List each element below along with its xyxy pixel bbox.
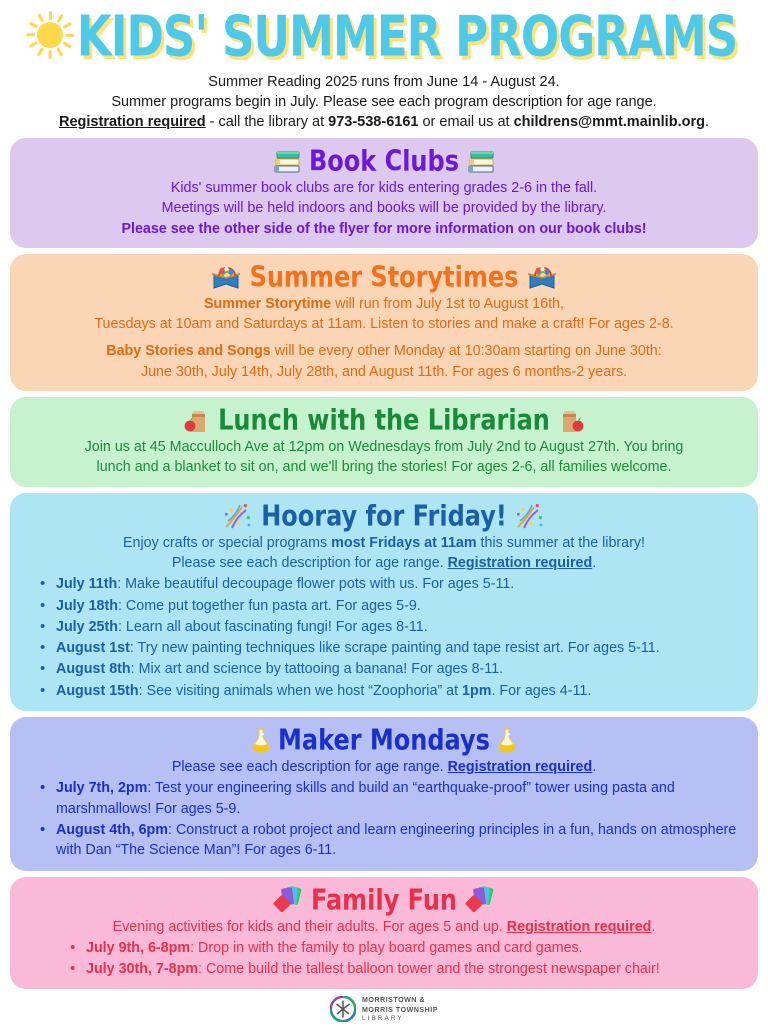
maker-line-1b: . (592, 759, 596, 775)
event-desc: : Come build the tallest balloon tower a… (198, 961, 660, 977)
storytimes-line-1: Summer Storytime will run from July 1st … (26, 294, 742, 314)
friday-line-2b: . (592, 555, 596, 571)
friday-time-highlight: most Fridays at 11am (331, 535, 476, 551)
registration-required-label: Registration required (59, 114, 206, 130)
library-phone: 973-538-6161 (328, 114, 418, 130)
playing-cards-icon (464, 885, 496, 915)
storytimes-header: Summer Storytimes (26, 260, 742, 294)
event-desc: : See visiting animals when we host “Zoo… (139, 683, 462, 699)
list-item: July 11th: Make beautiful decoupage flow… (40, 574, 742, 594)
storytimes-line-3-rest: will be every other Monday at 10:30am st… (271, 343, 662, 359)
flask-icon (251, 726, 271, 754)
section-hooray-for-friday: Hooray for Friday! Enjoy crafts or speci… (10, 493, 758, 711)
event-date: July 11th (56, 576, 117, 592)
list-item: August 4th, 6pm: Construct a robot proje… (40, 820, 742, 861)
list-item: July 18th: Come put together fun pasta a… (40, 596, 742, 616)
maker-title: Maker Mondays (278, 726, 490, 755)
book-clubs-title: Book Clubs (309, 147, 459, 176)
storytimes-line-4: June 30th, July 14th, July 28th, and Aug… (26, 362, 742, 382)
baby-stories-program-name: Baby Stories and Songs (106, 343, 270, 359)
family-line-1: Evening activities for kids and their ad… (26, 917, 742, 937)
logo-line-3: LIBRARY (362, 1015, 438, 1023)
list-item: July 25th: Learn all about fascinating f… (40, 617, 742, 637)
event-date: July 7th, 2pm (56, 780, 147, 796)
book-clubs-callout: Please see the other side of the flyer f… (121, 221, 646, 237)
open-book-rainbow-icon (525, 263, 559, 291)
playing-cards-icon (272, 885, 304, 915)
list-item: August 8th: Mix art and science by tatto… (40, 659, 742, 679)
family-line-1b: . (651, 919, 655, 935)
event-date: August 1st (56, 640, 130, 656)
book-clubs-line-2: Meetings will be held indoors and books … (26, 198, 742, 218)
lunch-bag-apple-icon (183, 406, 211, 434)
flyer-page: KIDS' SUMMER PROGRAMS Summer Reading 202… (0, 0, 768, 994)
header-line-3: Registration required - call the library… (0, 112, 768, 132)
title-row: KIDS' SUMMER PROGRAMS (0, 4, 768, 68)
header-line-1: Summer Reading 2025 runs from June 14 - … (0, 72, 768, 92)
section-family-fun: Family Fun Evening activities for kids a… (10, 877, 758, 990)
header-line-3b: or email us at (418, 114, 513, 130)
list-item: July 9th, 6-8pm: Drop in with the family… (70, 938, 742, 958)
flask-icon (497, 726, 517, 754)
section-lunch-with-librarian: Lunch with the Librarian Join us at 45 M… (10, 397, 758, 487)
header-line-3a: - call the library at (206, 114, 329, 130)
event-date: July 18th (56, 598, 118, 614)
registration-required-label: Registration required (448, 555, 593, 571)
stacked-books-icon (466, 148, 496, 175)
event-desc: : Test your engineering skills and build… (56, 780, 675, 816)
friday-event-list: July 11th: Make beautiful decoupage flow… (26, 574, 742, 701)
logo-line-2: MORRIS TOWNSHIP (362, 1006, 438, 1015)
family-header: Family Fun (26, 883, 742, 917)
list-item: July 30th, 7-8pm: Come build the tallest… (70, 959, 742, 979)
friday-line-1b: this summer at the library! (477, 535, 645, 551)
lunch-header: Lunch with the Librarian (26, 403, 742, 437)
stacked-books-icon (272, 148, 302, 175)
sun-icon (24, 9, 76, 61)
event-desc: : Drop in with the family to play board … (190, 940, 583, 956)
friday-line-2: Please see each description for age rang… (26, 553, 742, 573)
open-book-rainbow-icon (209, 263, 243, 291)
event-date: July 25th (56, 619, 118, 635)
event-date: August 8th (56, 661, 131, 677)
friday-line-2a: Please see each description for age rang… (172, 555, 448, 571)
header-line-2: Summer programs begin in July. Please se… (0, 92, 768, 112)
family-line-1a: Evening activities for kids and their ad… (113, 919, 507, 935)
book-clubs-header: Book Clubs (26, 144, 742, 178)
storytimes-line-2: Tuesdays at 10am and Saturdays at 11am. … (26, 314, 742, 334)
event-date: July 30th, 7-8pm (86, 961, 198, 977)
confetti-icon (514, 501, 546, 531)
library-email: childrens@mmt.mainlib.org (514, 114, 705, 130)
event-date: August 4th, 6pm (56, 822, 168, 838)
event-date: July 9th, 6-8pm (86, 940, 190, 956)
list-item: August 1st: Try new painting techniques … (40, 638, 742, 658)
event-desc: : Make beautiful decoupage flower pots w… (117, 576, 514, 592)
event-desc: : Try new painting techniques like scrap… (130, 640, 660, 656)
family-event-list: July 9th, 6-8pm: Drop in with the family… (26, 938, 742, 980)
flyer-header: KIDS' SUMMER PROGRAMS Summer Reading 202… (0, 0, 768, 132)
registration-required-label: Registration required (507, 919, 652, 935)
registration-required-label: Registration required (448, 759, 593, 775)
event-desc: : Come put together fun pasta art. For a… (118, 598, 421, 614)
header-subtext: Summer Reading 2025 runs from June 14 - … (0, 72, 768, 132)
storytime-program-name: Summer Storytime (204, 296, 331, 312)
friday-header: Hooray for Friday! (26, 499, 742, 533)
event-desc-2: . For ages 4-11. (491, 683, 591, 699)
list-item: July 7th, 2pm: Test your engineering ski… (40, 778, 742, 819)
section-maker-mondays: Maker Mondays Please see each descriptio… (10, 717, 758, 870)
friday-line-1: Enjoy crafts or special programs most Fr… (26, 533, 742, 553)
storytimes-line-1-rest: will run from July 1st to August 16th, (331, 296, 564, 312)
footer: MORRISTOWN & MORRIS TOWNSHIP LIBRARY (0, 996, 768, 1022)
library-logo-text: MORRISTOWN & MORRIS TOWNSHIP LIBRARY (362, 996, 438, 1022)
event-desc: : Mix art and science by tattooing a ban… (131, 661, 503, 677)
storytimes-title: Summer Storytimes (250, 262, 519, 291)
lunch-line-1: Join us at 45 Macculloch Ave at 12pm on … (26, 437, 742, 457)
maker-line-1a: Please see each description for age rang… (172, 759, 448, 775)
lunch-line-2: lunch and a blanket to sit on, and we'll… (26, 457, 742, 477)
maker-header: Maker Mondays (26, 723, 742, 757)
friday-title: Hooray for Friday! (261, 501, 507, 530)
book-clubs-line-1: Kids' summer book clubs are for kids ent… (26, 178, 742, 198)
header-line-3c: . (705, 114, 709, 130)
page-title: KIDS' SUMMER PROGRAMS (77, 8, 738, 64)
maker-event-list: July 7th, 2pm: Test your engineering ski… (26, 778, 742, 860)
event-time-highlight: 1pm (462, 683, 491, 699)
lunch-bag-apple-icon (557, 406, 585, 434)
library-logo-icon (330, 996, 356, 1022)
friday-line-1a: Enjoy crafts or special programs (123, 535, 331, 551)
section-summer-storytimes: Summer Storytimes Summer Storytime will … (10, 254, 758, 391)
section-book-clubs: Book Clubs Kids' summer book clubs are f… (10, 138, 758, 248)
event-desc: : Learn all about fascinating fungi! For… (118, 619, 428, 635)
family-title: Family Fun (311, 885, 457, 914)
maker-line-1: Please see each description for age rang… (26, 757, 742, 777)
confetti-icon (222, 501, 254, 531)
lunch-title: Lunch with the Librarian (218, 406, 550, 435)
logo-line-1: MORRISTOWN & (362, 996, 438, 1005)
book-clubs-line-3: Please see the other side of the flyer f… (26, 219, 742, 239)
event-date: August 15th (56, 683, 139, 699)
list-item: August 15th: See visiting animals when w… (40, 681, 742, 701)
storytimes-line-3: Baby Stories and Songs will be every oth… (26, 341, 742, 361)
